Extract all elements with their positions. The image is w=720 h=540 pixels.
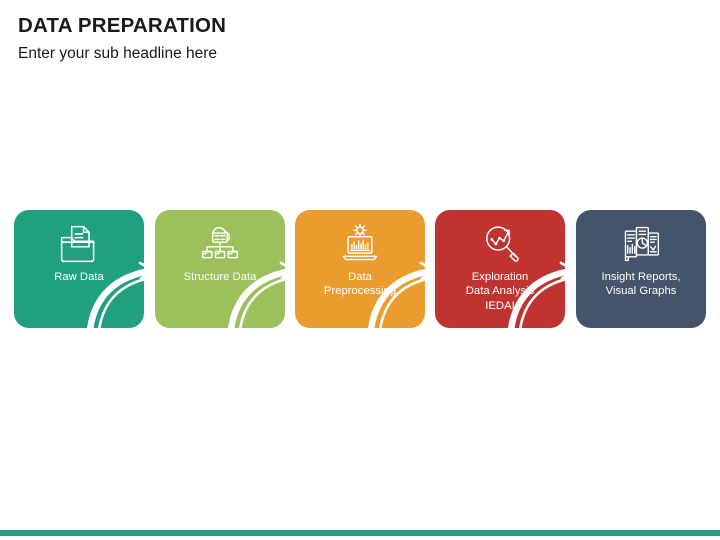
process-card-label: Raw Data	[17, 270, 141, 284]
process-card-exploration-data-analysis[interactable]: Exploration Data Analysis IEDAI	[435, 210, 565, 328]
process-card-structure-data[interactable]: Structure Data	[155, 210, 285, 328]
process-card-label: Exploration Data Analysis IEDAI	[438, 270, 562, 313]
label-line: Visual Graphs	[579, 284, 703, 298]
page-subtitle: Enter your sub headline here	[18, 45, 678, 64]
process-card-data-preprocessing[interactable]: Data Preprocessing	[295, 210, 425, 328]
label-line: IEDAI	[438, 299, 562, 313]
process-card-raw-data[interactable]: Raw Data	[14, 210, 144, 328]
process-card-label: Insight Reports, Visual Graphs	[579, 270, 703, 299]
process-card-label: Data Preprocessing	[298, 270, 422, 299]
bottom-accent-bar	[0, 530, 720, 536]
slide-header: DATA PREPARATION Enter your sub headline…	[18, 14, 678, 63]
label-line: Data	[298, 270, 422, 284]
label-line: Exploration	[438, 270, 562, 284]
folder-document-icon	[57, 223, 101, 265]
label-line: Structure Data	[158, 270, 282, 284]
magnifier-linechart-icon	[478, 223, 522, 265]
reports-documents-icon	[619, 223, 663, 265]
page-title: DATA PREPARATION	[18, 14, 678, 38]
label-line: Insight Reports,	[579, 270, 703, 284]
label-line: Data Analysis	[438, 284, 562, 298]
slide-canvas: DATA PREPARATION Enter your sub headline…	[0, 0, 720, 540]
process-card-insight-reports[interactable]: Insight Reports, Visual Graphs	[576, 210, 706, 328]
process-card-row: Raw Data	[0, 210, 720, 328]
process-card-label: Structure Data	[158, 270, 282, 284]
label-line: Preprocessing	[298, 284, 422, 298]
label-line: Raw Data	[17, 270, 141, 284]
laptop-gear-chart-icon	[338, 223, 382, 265]
cloud-database-hierarchy-icon	[198, 223, 242, 265]
